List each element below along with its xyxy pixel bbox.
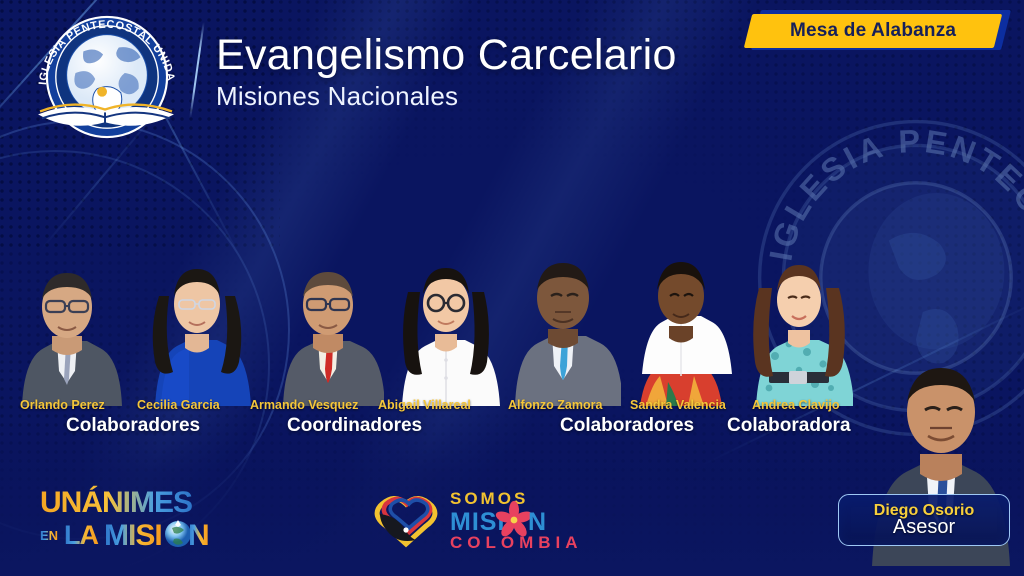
somos-mision-colombia-logo: SOMOS MISI N COLOMBIA [366, 484, 586, 552]
person-photo-andrea-clavijo [745, 236, 853, 406]
person-photo-alfonzo-zamora [505, 230, 621, 406]
role-label-coordinadores: Coordinadores [287, 415, 422, 437]
badge-label: Mesa de Alabanza [790, 20, 956, 42]
svg-text:COLOMBIA: COLOMBIA [450, 533, 583, 552]
person-name-sandra-valencia: Sandra Valencia [630, 398, 726, 412]
nameplate-diego-osorio: Diego Osorio Asesor [838, 494, 1010, 546]
svg-text:EN: EN [40, 528, 58, 543]
names-row: Orlando Perez Cecilia Garcia Armando Ves… [0, 398, 1024, 446]
person-name-orlando-perez: Orlando Perez [20, 398, 105, 412]
person-name-alfonzo-zamora: Alfonzo Zamora [508, 398, 602, 412]
page-subtitle: Misiones Nacionales [216, 80, 677, 112]
person-photo-orlando-perez [12, 241, 122, 406]
person-photo-sandra-valencia [628, 234, 734, 406]
unanimes-en-la-mision-logo: UNÁNIMES EN LA MISI N [36, 482, 244, 552]
church-logo: IGLESIA PENTECOSTAL UNIDA DE COLOMBIA [28, 12, 186, 140]
person-photo-cecilia-garcia [143, 238, 251, 406]
people-row [0, 226, 1024, 406]
svg-text:N: N [188, 519, 209, 552]
svg-text:MISI: MISI [104, 519, 162, 552]
nameplate-role: Asesor [893, 517, 955, 538]
svg-text:LA: LA [64, 520, 98, 550]
title-block: Evangelismo Carcelario Misiones Nacional… [216, 30, 677, 112]
svg-text:MISI: MISI [450, 508, 505, 536]
role-label-colaboradora: Colaboradora [727, 415, 851, 437]
page-title: Evangelismo Carcelario [216, 30, 677, 80]
svg-text:UNÁNIMES: UNÁNIMES [40, 485, 192, 519]
mesa-de-alabanza-badge[interactable]: Mesa de Alabanza [744, 14, 1002, 48]
role-label-colaboradores-1: Colaboradores [66, 415, 200, 437]
person-photo-abigail-villareal [392, 238, 500, 406]
svg-text:N: N [528, 508, 546, 536]
person-name-andrea-clavijo: Andrea Clavijo [752, 398, 840, 412]
person-name-cecilia-garcia: Cecilia Garcia [137, 398, 220, 412]
person-name-abigail-villareal: Abigail Villareal [378, 398, 471, 412]
slide-canvas: IGLESIA PENTECOSTAL [0, 0, 1024, 576]
person-photo-armando-vesquez [272, 240, 384, 406]
role-label-colaboradores-2: Colaboradores [560, 415, 694, 437]
person-name-armando-vesquez: Armando Vesquez [250, 398, 358, 412]
